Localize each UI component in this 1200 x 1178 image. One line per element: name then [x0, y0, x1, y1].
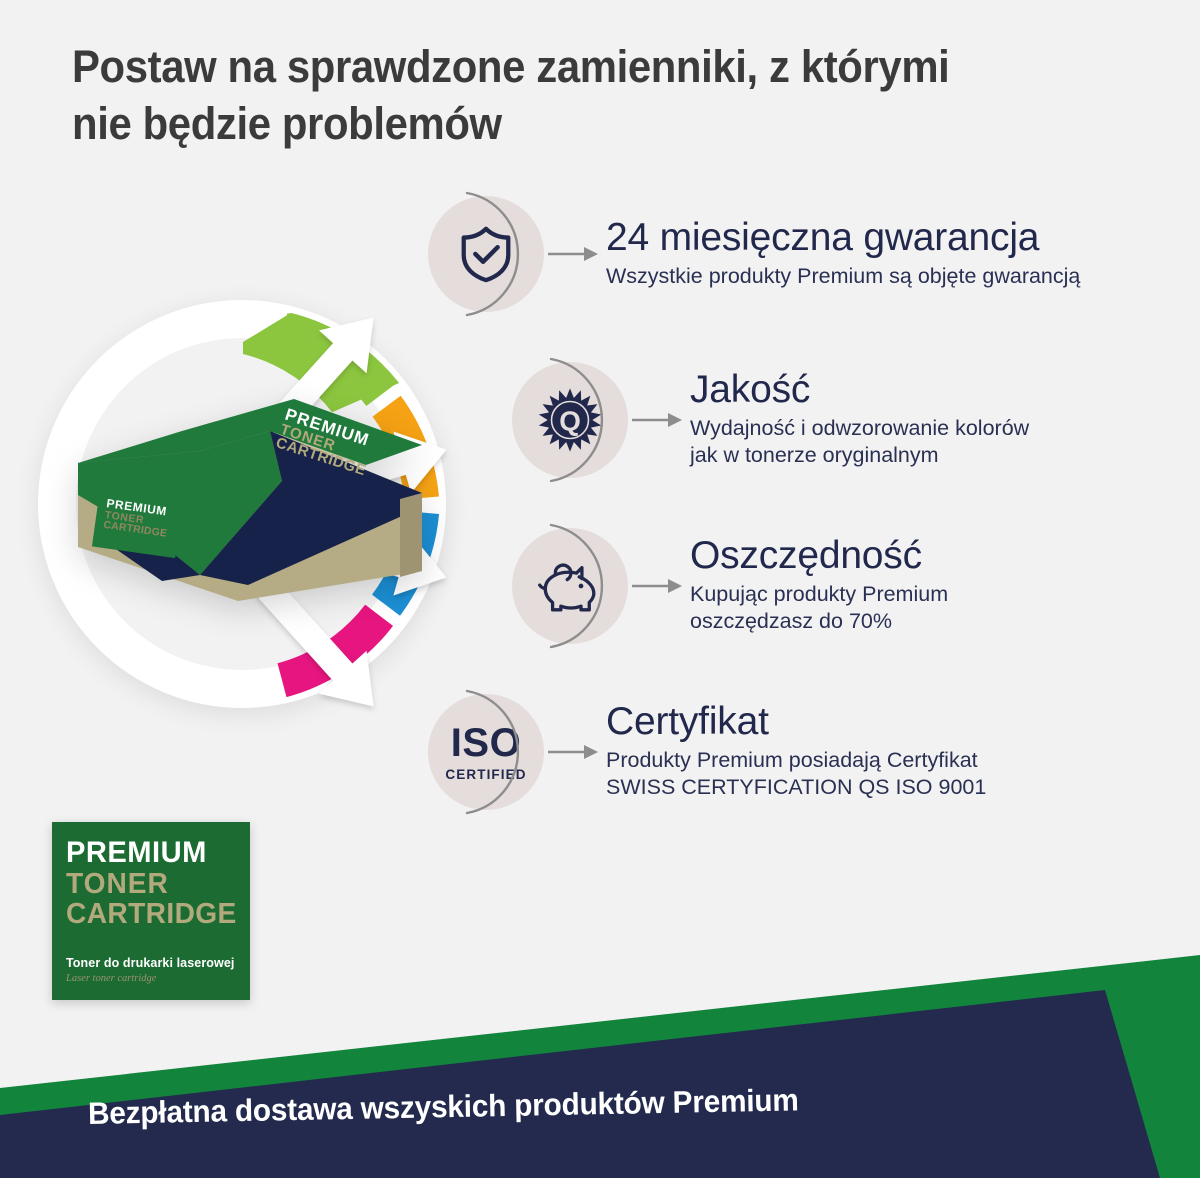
- feature-subtitle: Produkty Premium posiadają Certyfikat SW…: [606, 747, 986, 802]
- feature-subtitle: Kupując produkty Premium oszczędzasz do …: [690, 581, 948, 636]
- feature-text-block: Certyfikat Produkty Premium posiadają Ce…: [600, 702, 986, 802]
- shield-check-icon: [455, 223, 517, 285]
- feature-text-block: Jakość Wydajność i odwzorowanie kolorów …: [684, 370, 1029, 470]
- feature-row-jakosc[interactable]: Q Jakość Wydajność i odwzorowanie koloró…: [512, 362, 1029, 478]
- feature-subtitle: Wydajność i odwzorowanie kolorów jak w t…: [690, 415, 1029, 470]
- feature-title: 24 miesięczna gwarancja: [606, 218, 1080, 259]
- feature-title: Certyfikat: [606, 702, 986, 743]
- iso-sub-text: CERTIFIED: [445, 768, 526, 782]
- iso-main-text: ISO: [445, 723, 526, 763]
- feature-lead-arrow: [628, 410, 684, 430]
- feature-subtitle: Wszystkie produkty Premium są objęte gwa…: [606, 263, 1080, 290]
- feature-row-gwarancja[interactable]: 24 miesięczna gwarancja Wszystkie produk…: [428, 196, 1080, 312]
- piggy-bank-icon: [537, 555, 603, 617]
- svg-text:Q: Q: [559, 406, 581, 437]
- feature-lead-arrow: [628, 576, 684, 596]
- feature-icon-circle: ISO CERTIFIED: [428, 694, 544, 810]
- toner-cartridge-box: PREMIUM TONER CARTRIDGE PREMIUM TONER CA…: [70, 385, 430, 620]
- label-toner: TONER: [66, 868, 169, 901]
- infographic-canvas: Postaw na sprawdzone zamienniki, z który…: [0, 0, 1200, 1178]
- page-title: Postaw na sprawdzone zamienniki, z który…: [72, 38, 1058, 152]
- feature-title: Oszczędność: [690, 536, 948, 577]
- feature-icon-circle: [428, 196, 544, 312]
- feature-row-certyfikat[interactable]: ISO CERTIFIED Certyfikat Produkty Premiu…: [428, 694, 986, 810]
- iso-certified-icon: ISO CERTIFIED: [445, 723, 526, 782]
- feature-text-block: Oszczędność Kupując produkty Premium osz…: [684, 536, 948, 636]
- footer-banner: [0, 955, 1200, 1178]
- label-premium: PREMIUM: [66, 836, 207, 870]
- quality-seal-icon: Q: [537, 387, 603, 453]
- feature-lead-arrow: [544, 244, 600, 264]
- feature-row-oszczednosc[interactable]: Oszczędność Kupując produkty Premium osz…: [512, 528, 948, 644]
- feature-icon-circle: Q: [512, 362, 628, 478]
- feature-text-block: 24 miesięczna gwarancja Wszystkie produk…: [600, 218, 1080, 290]
- feature-lead-arrow: [544, 742, 600, 762]
- feature-icon-circle: [512, 528, 628, 644]
- feature-title: Jakość: [690, 370, 1029, 411]
- label-cartridge: CARTRIDGE: [66, 898, 237, 931]
- box-right-face: [400, 493, 422, 577]
